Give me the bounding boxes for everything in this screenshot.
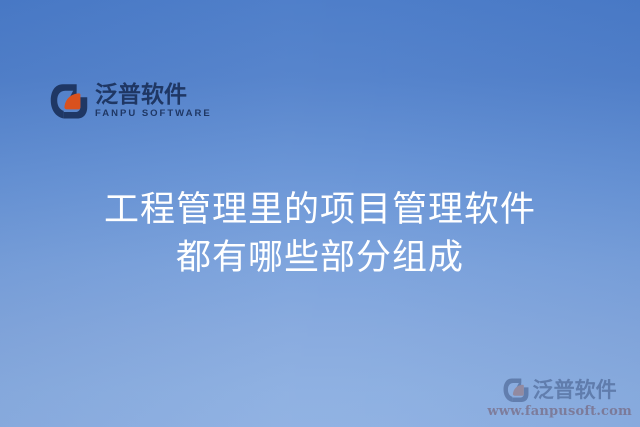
page-title: 工程管理里的项目管理软件 都有哪些部分组成 — [0, 186, 640, 282]
brand-name-en: FANPU SOFTWARE — [95, 109, 212, 119]
brand-logo: 泛普软件 FANPU SOFTWARE — [50, 82, 212, 120]
slide-canvas: 泛普软件 FANPU SOFTWARE 工程管理里的项目管理软件 都有哪些部分组… — [0, 0, 640, 427]
watermark-url: www.fanpusoft.com — [487, 404, 632, 419]
fanpu-logo-watermark-icon — [503, 377, 529, 403]
brand-wordmark: 泛普软件 FANPU SOFTWARE — [95, 83, 212, 120]
page-title-line-2: 都有哪些部分组成 — [0, 234, 640, 282]
watermark: 泛普软件 www.fanpusoft.com — [487, 377, 632, 419]
watermark-name-cn: 泛普软件 — [533, 380, 617, 401]
watermark-logo-row: 泛普软件 — [503, 377, 617, 403]
brand-name-cn: 泛普软件 — [95, 83, 212, 107]
page-title-line-1: 工程管理里的项目管理软件 — [0, 186, 640, 234]
fanpu-logo-icon — [50, 82, 88, 120]
